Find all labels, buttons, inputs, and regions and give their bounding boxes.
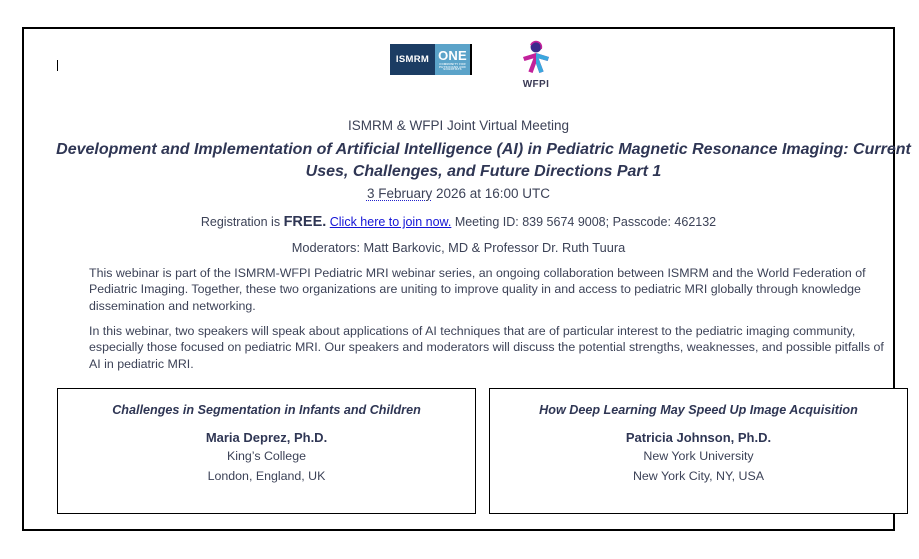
speaker-city: London, England, UK xyxy=(58,469,475,483)
date-day-month: 3 February xyxy=(367,186,432,201)
speaker-talk-title: How Deep Learning May Speed Up Image Acq… xyxy=(490,403,907,417)
speaker-name: Maria Deprez, Ph.D. xyxy=(58,430,475,445)
speaker-talk-title: Challenges in Segmentation in Infants an… xyxy=(58,403,475,417)
ismrm-logo-wordmark: ISMRM xyxy=(390,44,435,75)
speaker-affiliation: New York University xyxy=(490,449,907,463)
wfpi-logo: WFPI xyxy=(516,40,556,86)
wfpi-label: WFPI xyxy=(516,79,556,90)
date-line: 3 February 2026 at 16:00 UTC xyxy=(24,186,893,201)
logo-row: ISMRM ONE COMMUNITY FOR PHYSICIANS AND S… xyxy=(24,38,893,86)
meeting-id-passcode: Meeting ID: 839 5674 9008; Passcode: 462… xyxy=(451,215,716,229)
speaker-card: How Deep Learning May Speed Up Image Acq… xyxy=(489,388,908,514)
body-paragraph-2: In this webinar, two speakers will speak… xyxy=(89,323,889,372)
speaker-affiliation: King’s College xyxy=(58,449,475,463)
ismrm-one-panel: ONE COMMUNITY FOR PHYSICIANS AND SCIENTI… xyxy=(435,44,470,75)
screenshot-canvas: ISMRM ONE COMMUNITY FOR PHYSICIANS AND S… xyxy=(0,0,919,559)
body-paragraph-1: This webinar is part of the ISMRM-WFPI P… xyxy=(89,265,889,314)
date-rest: 2026 at 16:00 UTC xyxy=(432,186,550,201)
registration-prefix: Registration is xyxy=(201,215,284,229)
meeting-subtitle: ISMRM & WFPI Joint Virtual Meeting xyxy=(24,118,893,133)
registration-line: Registration is FREE. Click here to join… xyxy=(24,214,893,230)
registration-free-label: FREE. xyxy=(284,214,327,230)
ismrm-tagline: COMMUNITY FOR PHYSICIANS AND SCIENTISTS xyxy=(435,63,470,71)
speaker-card: Challenges in Segmentation in Infants an… xyxy=(57,388,476,514)
document-frame: ISMRM ONE COMMUNITY FOR PHYSICIANS AND S… xyxy=(22,27,895,531)
ismrm-one-logo: ISMRM ONE COMMUNITY FOR PHYSICIANS AND S… xyxy=(390,44,470,75)
page-title: Development and Implementation of Artifi… xyxy=(54,139,913,183)
ismrm-logo-edge-rule xyxy=(470,44,472,75)
join-meeting-link[interactable]: Click here to join now. xyxy=(330,215,452,229)
speaker-city: New York City, NY, USA xyxy=(490,469,907,483)
ismrm-one-word: ONE xyxy=(438,49,467,62)
moderators-line: Moderators: Matt Barkovic, MD & Professo… xyxy=(24,240,893,255)
wfpi-person-icon xyxy=(516,40,556,74)
speaker-name: Patricia Johnson, Ph.D. xyxy=(490,430,907,445)
